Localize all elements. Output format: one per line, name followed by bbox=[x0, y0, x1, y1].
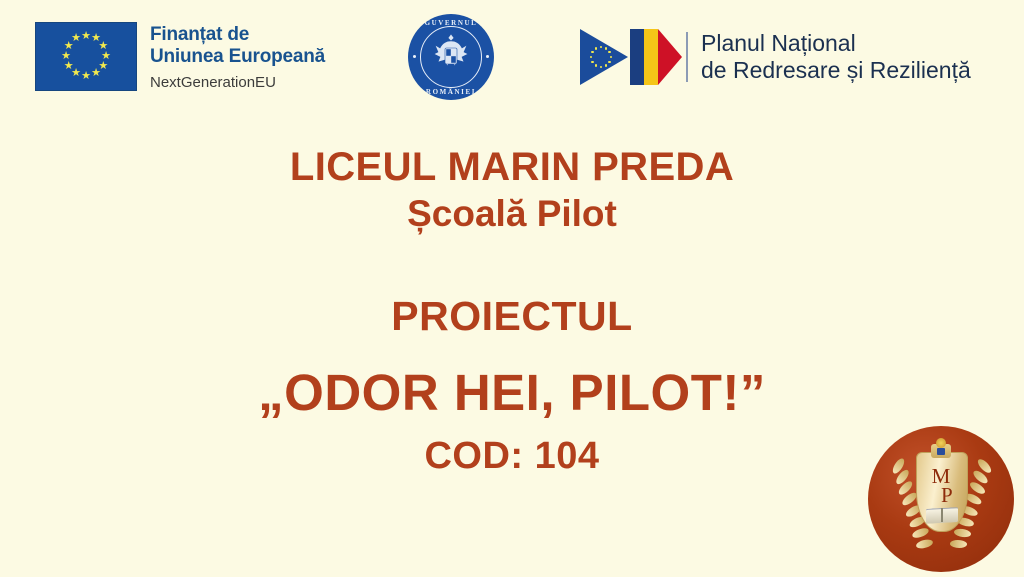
pnrr-logo: Planul Național de Redresare și Rezilien… bbox=[580, 27, 971, 87]
eu-star-icon: ★ bbox=[91, 68, 102, 80]
romanian-flag-red-arrow bbox=[658, 29, 682, 85]
laurel-leaf-icon bbox=[916, 539, 934, 549]
project-title: „ODOR HEI, PILOT!” bbox=[0, 364, 1024, 422]
pnrr-line-2: de Redresare și Reziliență bbox=[701, 57, 971, 84]
laurel-leaf-icon bbox=[912, 527, 930, 539]
open-book-icon bbox=[926, 507, 958, 524]
school-crest-logo: M P bbox=[868, 426, 1014, 572]
nextgenerationeu-label: NextGenerationEU bbox=[150, 73, 325, 92]
pnrr-star-icon bbox=[595, 47, 598, 50]
pnrr-star-icon bbox=[591, 51, 594, 54]
pnrr-star-icon bbox=[610, 56, 613, 59]
crest-shield: M P bbox=[916, 452, 968, 532]
eu-funding-logo: ★★★★★★★★★★★★ Finanțat de Uniunea Europea… bbox=[35, 22, 325, 92]
school-subtitle: Școală Pilot bbox=[0, 192, 1024, 236]
presentation-slide: ★★★★★★★★★★★★ Finanțat de Uniunea Europea… bbox=[0, 0, 1024, 577]
laurel-leaf-icon bbox=[950, 539, 968, 549]
seal-text-bottom: ROMÂNIEI bbox=[408, 88, 494, 96]
pnrr-star-icon bbox=[595, 64, 598, 67]
eagle-coat-of-arms-icon bbox=[429, 30, 473, 86]
eu-flag-icon: ★★★★★★★★★★★★ bbox=[35, 22, 137, 91]
laurel-leaf-icon bbox=[953, 527, 971, 539]
eu-funding-line-1: Finanțat de bbox=[150, 24, 325, 46]
eu-star-icon: ★ bbox=[71, 33, 82, 45]
seal-dot-left bbox=[413, 55, 416, 58]
eu-star-icon: ★ bbox=[81, 71, 92, 83]
eu-funding-text: Finanțat de Uniunea Europeană NextGenera… bbox=[150, 22, 325, 92]
pnrr-star-icon bbox=[600, 46, 603, 49]
pnrr-star-icon bbox=[605, 47, 608, 50]
pnrr-eu-stars-icon bbox=[587, 43, 615, 71]
pnrr-arrow-marks-icon bbox=[580, 27, 682, 87]
romanian-flag-yellow-band bbox=[644, 29, 658, 85]
seal-text-top: GUVERNUL bbox=[408, 19, 494, 27]
pnrr-line-1: Planul Național bbox=[701, 30, 971, 57]
romanian-flag-blue-band bbox=[630, 29, 644, 85]
pnrr-star-icon bbox=[608, 51, 611, 54]
pnrr-star-icon bbox=[600, 66, 603, 69]
project-label: PROIECTUL bbox=[0, 292, 1024, 340]
pnrr-star-icon bbox=[590, 56, 593, 59]
seal-dot-right bbox=[486, 55, 489, 58]
pnrr-star-icon bbox=[605, 64, 608, 67]
funding-logos-band: ★★★★★★★★★★★★ Finanțat de Uniunea Europea… bbox=[0, 0, 1024, 110]
government-seal-icon: GUVERNUL ROMÂNIEI bbox=[408, 14, 494, 100]
school-name: LICEUL MARIN PREDA bbox=[0, 144, 1024, 190]
guvernul-romaniei-logo: GUVERNUL ROMÂNIEI bbox=[408, 14, 494, 100]
pnrr-star-icon bbox=[591, 61, 594, 64]
crest-initial-p: P bbox=[941, 483, 953, 508]
eu-funding-line-2: Uniunea Europeană bbox=[150, 46, 325, 68]
pnrr-divider bbox=[686, 32, 688, 82]
pnrr-text: Planul Național de Redresare și Rezilien… bbox=[701, 30, 971, 84]
crest-gem-icon bbox=[936, 438, 946, 448]
pnrr-star-icon bbox=[608, 61, 611, 64]
